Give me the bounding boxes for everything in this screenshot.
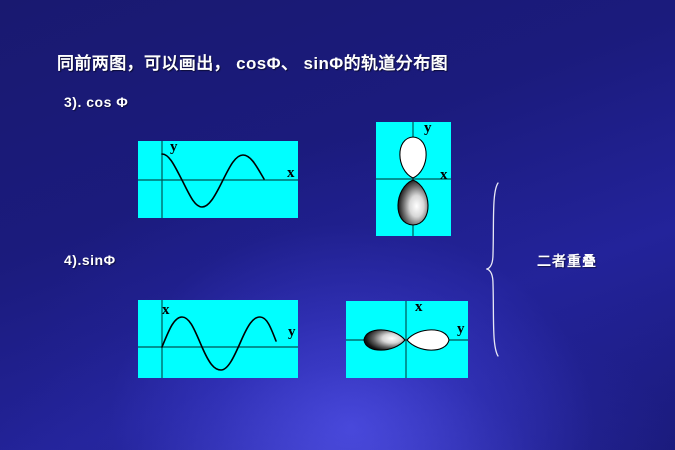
orbital-lobe-left [364,330,405,350]
brace-path [487,183,498,356]
orbital-lobe-bottom [398,180,428,225]
overlap-note: 二者重叠 [537,251,597,271]
sin-orbital-x-axis-label: x [415,300,423,315]
orbital-lobe-right [407,330,449,350]
cosine-wave-plot [138,141,298,218]
cos-wave-x-axis-label: x [287,166,295,181]
sin-wave-x-axis-label: x [162,303,170,318]
item-label-sin: 4).sinΦ [64,252,116,268]
slide-canvas: 同前两图，可以画出， cosΦ、 sinΦ的轨道分布图 3). cos Φ y … [0,0,675,450]
sine-orbital-svg [346,301,468,378]
item-label-cos: 3). cos Φ [64,94,128,110]
orbital-lobe-top [400,137,426,178]
sine-orbital-diagram [346,301,468,378]
cosine-wave-svg [138,141,298,218]
right-brace-svg [486,182,508,357]
cos-wave-y-axis-label: y [170,140,178,155]
cos-orbital-x-axis-label: x [440,168,448,183]
cos-orbital-y-axis-label: y [424,121,432,136]
sin-wave-y-axis-label: y [288,325,296,340]
right-brace [486,182,508,357]
page-title: 同前两图，可以画出， cosΦ、 sinΦ的轨道分布图 [57,49,448,74]
sine-curve-path [162,317,276,370]
sin-orbital-y-axis-label: y [457,322,465,337]
